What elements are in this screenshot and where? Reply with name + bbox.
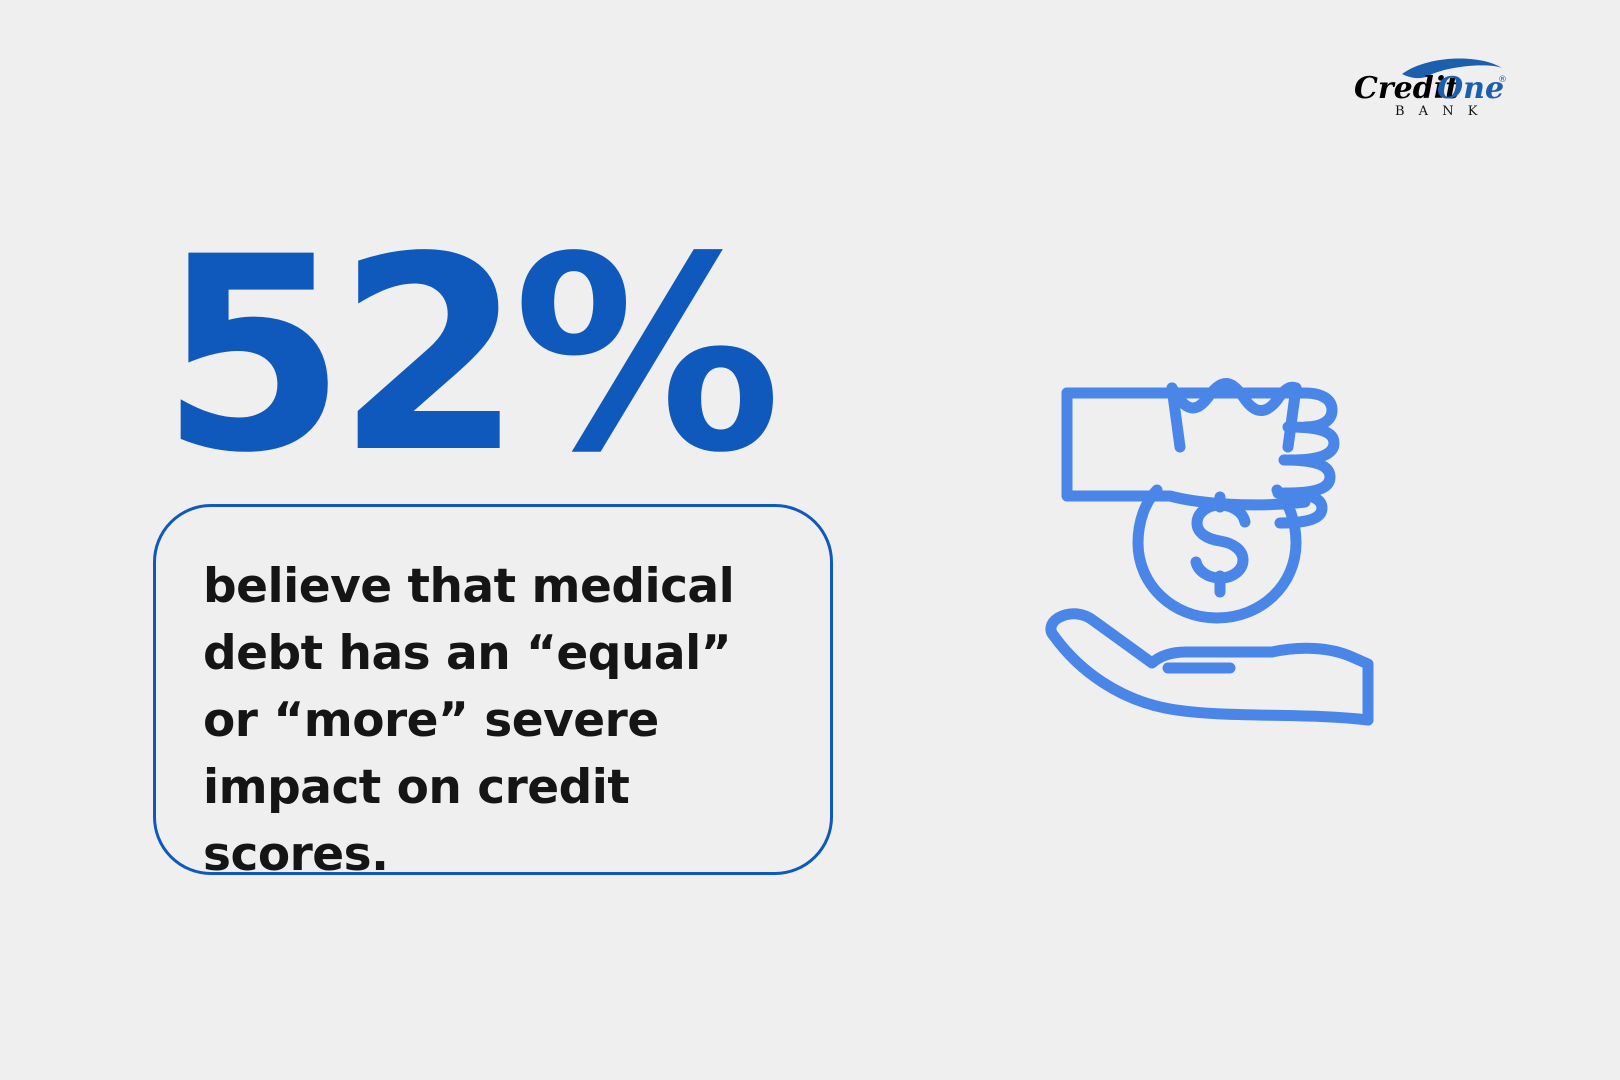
statement-text: believe that medical debt has an “equal”… <box>203 553 783 888</box>
credit-one-bank-logo: Credit One ® B A N K <box>1340 52 1520 120</box>
dollar-sign-icon <box>1196 497 1245 592</box>
logo-word-bank: B A N K <box>1395 104 1482 119</box>
finger-top-icon <box>1305 393 1332 427</box>
logo-registered-mark: ® <box>1498 75 1507 85</box>
infographic-canvas: Credit One ® B A N K 52% believe that me… <box>0 0 1620 1080</box>
stat-percentage: 52% <box>160 222 771 490</box>
logo-word-one: One <box>1437 71 1504 106</box>
hand-giving-money-bag-illustration <box>1040 300 1380 740</box>
